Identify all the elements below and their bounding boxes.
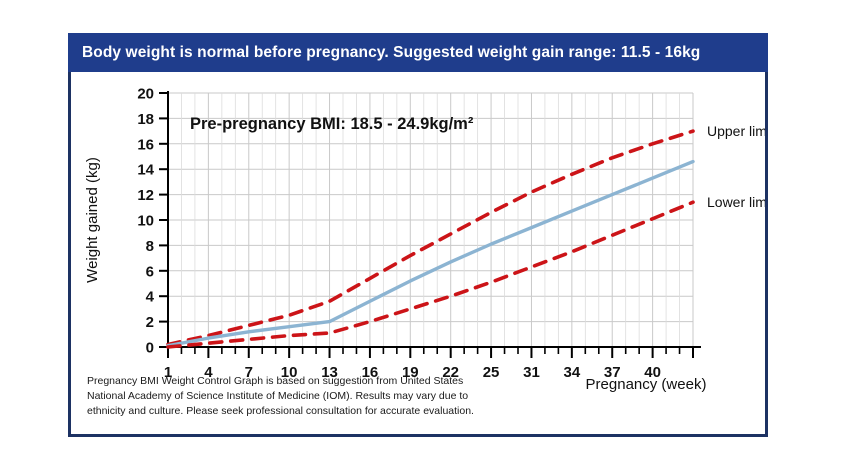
y-tick-label: 8 xyxy=(146,238,154,255)
header-banner: Body weight is normal before pregnancy. … xyxy=(68,33,768,72)
y-tick-label: 4 xyxy=(146,289,155,306)
series-line-upper-limit xyxy=(168,131,693,344)
series-layer xyxy=(168,131,693,347)
y-axis-title: Weight gained (kg) xyxy=(84,157,101,283)
y-tick-label: 10 xyxy=(137,213,154,230)
series-label-lower-limit: Lower limit xyxy=(707,194,765,210)
annotation-layer: Pre-pregnancy BMI: 18.5 - 24.9kg/m² xyxy=(190,115,474,133)
y-axis-title-layer: Weight gained (kg) xyxy=(84,157,101,283)
footnote-text: Pregnancy BMI Weight Control Graph is ba… xyxy=(87,374,487,419)
y-tick-label: 20 xyxy=(137,86,154,103)
series-label-layer: Upper limitLower limit xyxy=(707,123,765,210)
x-tick-label: 31 xyxy=(523,364,540,381)
chart-card: Body weight is normal before pregnancy. … xyxy=(68,33,768,437)
y-tick-label: 14 xyxy=(137,162,154,179)
y-tick-label: 18 xyxy=(137,111,154,128)
y-tick-label: 16 xyxy=(137,136,154,153)
series-line-median xyxy=(168,162,693,346)
y-tick-label: 12 xyxy=(137,187,154,204)
header-title: Body weight is normal before pregnancy. … xyxy=(68,44,700,62)
y-tick-label: 0 xyxy=(146,340,154,357)
series-line-lower-limit xyxy=(168,202,693,347)
y-tick-label: 2 xyxy=(146,314,154,331)
bmi-annotation: Pre-pregnancy BMI: 18.5 - 24.9kg/m² xyxy=(190,115,474,133)
y-tick-label: 6 xyxy=(146,263,154,280)
series-label-upper-limit: Upper limit xyxy=(707,123,765,139)
x-axis-title: Pregnancy (week) xyxy=(541,376,751,393)
